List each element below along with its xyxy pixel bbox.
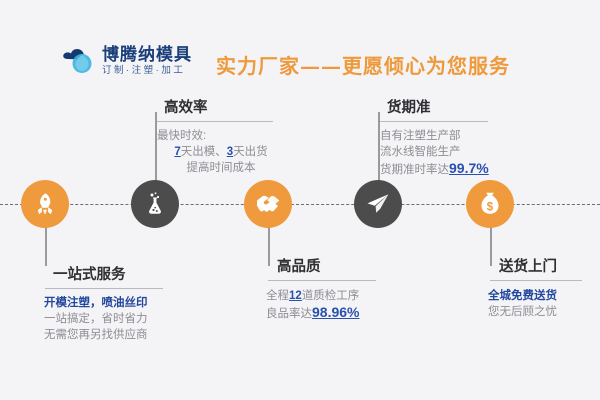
title-rule-3 (268, 280, 376, 281)
line-2-text-a: 良品率达 (266, 308, 312, 320)
timeline-node-rocket[interactable] (21, 180, 69, 228)
stem-5 (490, 224, 492, 266)
timeline-node-money-bag[interactable]: $ (466, 180, 514, 228)
block-high-quality: 高品质 全程12道质检工序 良品率达98.96% (268, 255, 398, 322)
page-headline: 实力厂家——更愿倾心为您服务 (216, 50, 510, 79)
logo-text: 博腾纳模具 订制·注塑·加工 (102, 46, 192, 76)
handshake-icon (254, 190, 282, 218)
block-lines-one-stop-service: 开模注塑，喷油丝印 一站搞定，省时省力 无需您再另找供应商 (44, 295, 180, 343)
title-rule-1 (45, 288, 163, 289)
line-2-text-a: 天出模、 (181, 146, 227, 158)
block-on-time-delivery: 货期准 自有注塑生产部 流水线智能生产 货期准时率达99.7% (378, 96, 518, 178)
title-rule-2 (155, 121, 273, 122)
stem-2 (155, 112, 157, 182)
line-1: 最快时效: (157, 128, 285, 144)
block-lines-door-to-door-delivery: 全城免费送货 您无后顾之忧 (488, 288, 600, 320)
block-lines-on-time-delivery: 自有注塑生产部 流水线智能生产 货期准时率达99.7% (380, 128, 518, 178)
block-door-to-door-delivery: 送货上门 全城免费送货 您无后顾之忧 (490, 255, 600, 320)
line-1-text-a: 全程 (266, 290, 289, 302)
line-3: 货期准时率达99.7% (380, 160, 518, 178)
line-3: 无需您再另找供应商 (44, 327, 180, 343)
line-2: 流水线智能生产 (380, 144, 518, 160)
block-title-high-quality: 高品质 (268, 255, 331, 280)
timeline-node-handshake[interactable] (244, 180, 292, 228)
logo-title: 博腾纳模具 (102, 46, 192, 63)
logo-subtitle: 订制·注塑·加工 (102, 66, 192, 76)
block-title-on-time-delivery: 货期准 (378, 96, 441, 121)
value-inspection-steps: 12 (289, 290, 302, 302)
timeline-node-flask[interactable] (131, 180, 179, 228)
stem-3 (268, 224, 270, 266)
block-title-one-stop-service: 一站式服务 (44, 263, 136, 288)
rocket-icon (32, 191, 58, 217)
line-2: 7天出模、3天出货 (157, 144, 285, 160)
stem-1 (45, 224, 47, 266)
svg-text:$: $ (487, 201, 494, 213)
line-1: 开模注塑，喷油丝印 (44, 295, 180, 311)
stem-4 (378, 112, 380, 182)
block-title-door-to-door-delivery: 送货上门 (490, 255, 567, 280)
block-lines-high-quality: 全程12道质检工序 良品率达98.96% (266, 288, 398, 322)
title-rule-4 (378, 121, 488, 122)
block-one-stop-service: 一站式服务 开模注塑，喷油丝印 一站搞定，省时省力 无需您再另找供应商 (45, 263, 180, 343)
line-2: 您无后顾之忧 (488, 304, 600, 320)
block-title-high-efficiency: 高效率 (155, 96, 218, 121)
company-logo: 博腾纳模具 订制·注塑·加工 (62, 46, 192, 76)
line-3-text-a: 货期准时率达 (380, 164, 449, 176)
cloud-droplet-logo-icon (62, 46, 96, 76)
money-bag-icon: $ (477, 191, 503, 217)
block-lines-high-efficiency: 最快时效: 7天出模、3天出货 提高时间成本 (157, 128, 285, 176)
value-ontime-rate: 99.7% (449, 160, 489, 176)
paper-plane-icon (365, 191, 391, 217)
line-1: 全程12道质检工序 (266, 288, 398, 304)
line-2: 一站搞定，省时省力 (44, 311, 180, 327)
line-1-text-b: 道质检工序 (302, 290, 360, 302)
line-2-text-b: 天出货 (233, 146, 268, 158)
line-3: 提高时间成本 (157, 160, 285, 176)
block-high-efficiency: 高效率 最快时效: 7天出模、3天出货 提高时间成本 (155, 96, 285, 176)
line-1: 自有注塑生产部 (380, 128, 518, 144)
line-2: 良品率达98.96% (266, 304, 398, 322)
line-1: 全城免费送货 (488, 288, 600, 304)
flask-icon (142, 191, 168, 217)
infographic-canvas: 博腾纳模具 订制·注塑·加工 实力厂家——更愿倾心为您服务 (0, 0, 600, 400)
timeline-node-paper-plane[interactable] (354, 180, 402, 228)
title-rule-5 (490, 280, 582, 281)
value-yield-rate: 98.96% (312, 304, 359, 320)
